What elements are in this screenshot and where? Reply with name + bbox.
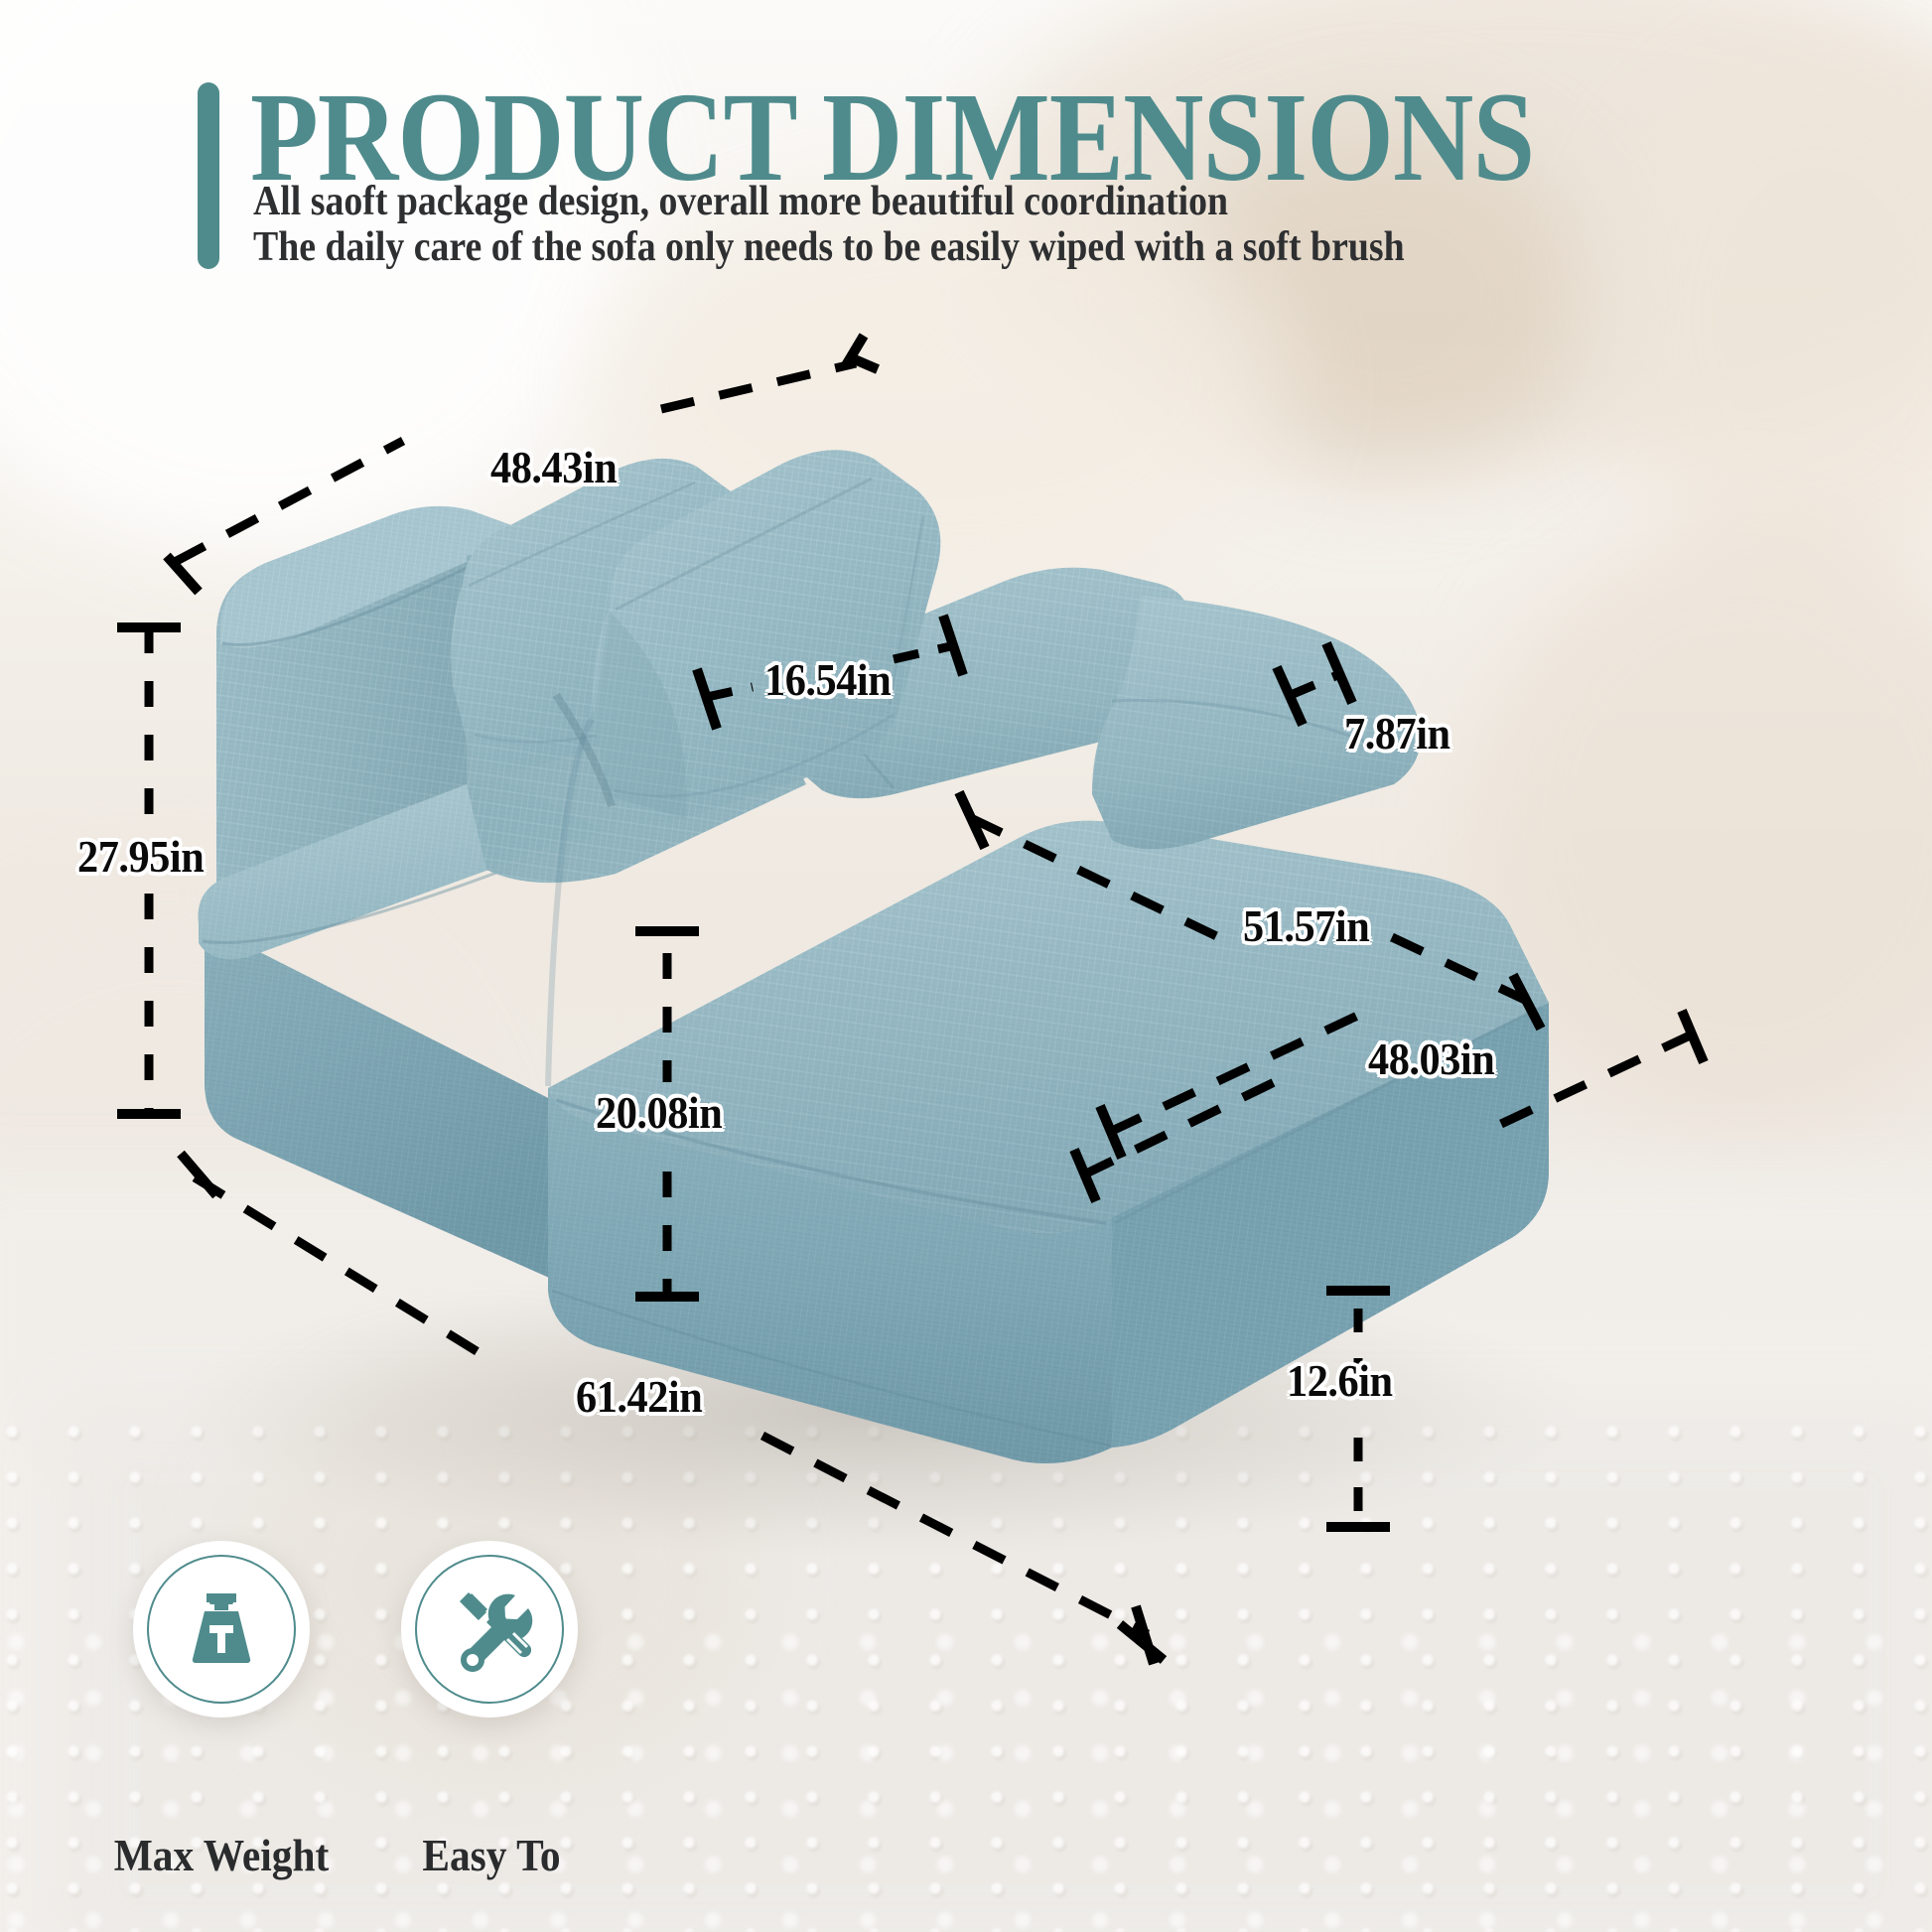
- feature-badge-easy-install[interactable]: [401, 1541, 578, 1718]
- feature-label-line-1: Max Weight: [85, 1830, 357, 1882]
- dimension-label-overall-back-width: 48.43in: [490, 441, 617, 493]
- dimension-label-seat-width: 48.03in: [1368, 1033, 1494, 1085]
- leader-48-43-right: [661, 363, 856, 409]
- endcap-61-42-top: [181, 1154, 216, 1195]
- feature-label-easy-install: Easy To Install: [355, 1777, 627, 1932]
- dimension-label-pillow-size: 16.54in: [764, 653, 891, 706]
- dimension-label-overall-height: 27.95in: [77, 830, 204, 883]
- weight-icon: [174, 1582, 269, 1677]
- dimension-label-seat-length: 51.57in: [1243, 899, 1369, 952]
- dimension-label-backrest-depth: 7.87in: [1344, 707, 1450, 759]
- dimension-label-armrest-height: 20.08in: [596, 1086, 722, 1139]
- feature-badge-max-weight[interactable]: [133, 1541, 310, 1718]
- feature-label-line-1: Easy To: [355, 1830, 627, 1882]
- dimension-label-seat-height: 12.6in: [1287, 1354, 1393, 1407]
- infographic-canvas: PRODUCT DIMENSIONS All saoft package des…: [0, 0, 1932, 1932]
- tools-icon: [442, 1582, 537, 1677]
- dimension-label-overall-depth: 61.42in: [576, 1370, 702, 1423]
- feature-label-max-weight: Max Weight 300kg: [85, 1777, 357, 1932]
